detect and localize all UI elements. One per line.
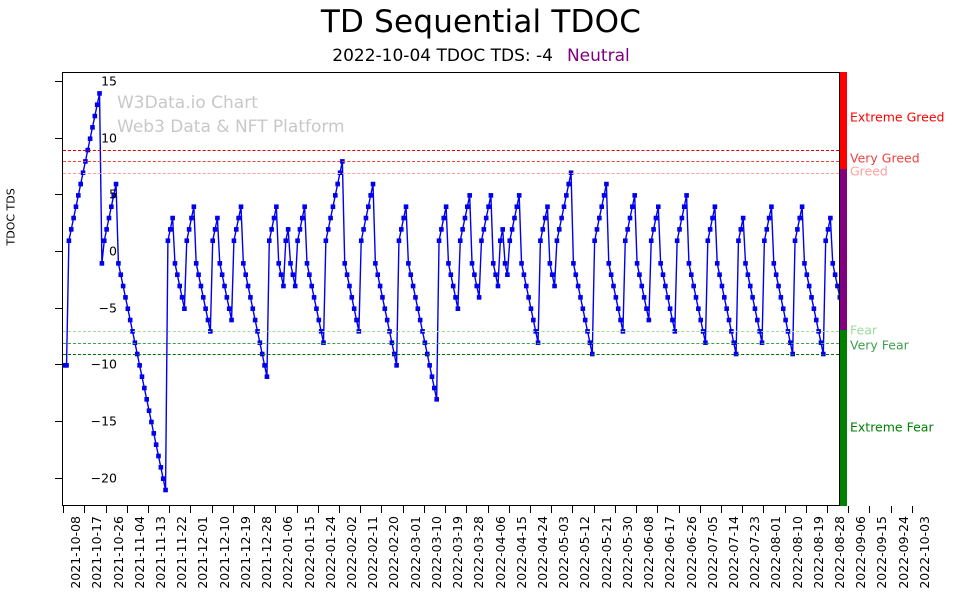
chart-subtitle-row: 2022-10-04 TDOC TDS: -4Neutral: [0, 46, 962, 66]
colorbar-segment-label: Extreme Greed: [850, 110, 944, 125]
data-series-line: [63, 73, 840, 506]
x-axis-tick-label: 2022-05-03: [556, 516, 571, 589]
threshold-zone-label: Greed: [850, 163, 888, 178]
x-axis-tick-mark: [551, 506, 552, 513]
x-axis-tick-label: 2022-05-12: [577, 516, 592, 589]
x-axis-tick-mark: [636, 506, 637, 513]
threshold-zone-label: Fear: [850, 323, 877, 338]
x-axis-tick-mark: [869, 506, 870, 513]
y-axis-tick-label: 5: [57, 187, 117, 202]
y-axis-tick-mark: [55, 308, 62, 309]
x-axis-tick-label: 2022-01-15: [302, 516, 317, 589]
y-axis-tick-label: 10: [57, 130, 117, 145]
y-axis-tick-label: −5: [57, 300, 117, 315]
x-axis-tick-label: 2022-06-26: [684, 516, 699, 589]
y-axis-tick-label: 0: [57, 244, 117, 259]
y-axis-tick-label: −10: [57, 357, 117, 372]
x-axis-tick-mark: [445, 506, 446, 513]
colorbar-segment: [840, 169, 847, 330]
x-axis-tick-label: 2022-08-10: [790, 516, 805, 589]
colorbar-segment: [840, 72, 847, 169]
x-axis-tick-mark: [572, 506, 573, 513]
x-axis-tick-mark: [742, 506, 743, 513]
x-axis-tick-label: 2022-09-24: [896, 516, 911, 589]
chart-title: TD Sequential TDOC: [0, 4, 962, 40]
x-axis-tick-label: 2022-07-05: [705, 516, 720, 589]
x-axis-tick-mark: [424, 506, 425, 513]
x-axis-tick-label: 2022-08-19: [811, 516, 826, 589]
x-axis-tick-label: 2021-10-08: [68, 516, 83, 589]
x-axis-tick-mark: [721, 506, 722, 513]
x-axis-tick-label: 2022-03-19: [450, 516, 465, 589]
chart-subtitle: 2022-10-04 TDOC TDS: -4: [332, 46, 553, 66]
x-axis-tick-mark: [190, 506, 191, 513]
x-axis-tick-label: 2022-09-15: [874, 516, 889, 589]
x-axis-tick-mark: [466, 506, 467, 513]
x-axis-tick-label: 2022-01-24: [323, 516, 338, 589]
x-axis-tick-label: 2022-04-24: [535, 516, 550, 589]
x-axis-tick-mark: [169, 506, 170, 513]
greed-threshold: [63, 173, 839, 174]
x-axis-tick-mark: [148, 506, 149, 513]
plot-area: W3Data.io Chart Web3 Data & NFT Platform: [62, 72, 840, 506]
y-axis-tick-mark: [55, 81, 62, 82]
x-axis-tick-mark: [848, 506, 849, 513]
y-axis-tick-mark: [55, 138, 62, 139]
x-axis-tick-label: 2021-11-22: [174, 516, 189, 589]
x-axis-tick-label: 2022-05-21: [599, 516, 614, 589]
x-axis-tick-label: 2022-02-11: [365, 516, 380, 589]
y-axis-tick-label: 15: [57, 74, 117, 89]
x-axis-tick-label: 2022-10-03: [917, 516, 932, 589]
x-axis-tick-mark: [488, 506, 489, 513]
x-axis-tick-label: 2022-01-06: [280, 516, 295, 589]
x-axis-tick-label: 2022-03-10: [429, 516, 444, 589]
x-axis-tick-label: 2022-07-23: [747, 516, 762, 589]
x-axis-tick-label: 2022-07-14: [726, 516, 741, 589]
y-axis-tick-mark: [55, 478, 62, 479]
x-axis-tick-mark: [360, 506, 361, 513]
x-axis-tick-label: 2021-12-01: [195, 516, 210, 589]
y-axis-tick-mark: [55, 251, 62, 252]
x-axis-tick-label: 2022-08-28: [832, 516, 847, 589]
watermark-line-2: Web3 Data & NFT Platform: [117, 117, 345, 137]
plot-inner: W3Data.io Chart Web3 Data & NFT Platform: [63, 73, 839, 505]
x-axis-tick-label: 2022-06-17: [662, 516, 677, 589]
x-axis-tick-label: 2021-11-13: [153, 516, 168, 589]
x-axis-tick-mark: [763, 506, 764, 513]
x-axis-tick-label: 2022-08-01: [768, 516, 783, 589]
x-axis-tick-mark: [509, 506, 510, 513]
x-axis-tick-mark: [403, 506, 404, 513]
x-axis-tick-mark: [275, 506, 276, 513]
chart-canvas: TD Sequential TDOC 2022-10-04 TDOC TDS: …: [0, 0, 962, 613]
y-axis-tick-label: −15: [57, 414, 117, 429]
x-axis-tick-mark: [106, 506, 107, 513]
x-axis-tick-label: 2021-12-10: [217, 516, 232, 589]
x-axis-tick-mark: [381, 506, 382, 513]
x-axis-tick-mark: [679, 506, 680, 513]
x-axis-tick-mark: [912, 506, 913, 513]
x-axis-tick-label: 2021-11-04: [132, 516, 147, 589]
y-axis-label: TDOC TDS: [5, 228, 18, 246]
watermark-line-1: W3Data.io Chart: [117, 93, 258, 113]
x-axis-tick-mark: [827, 506, 828, 513]
x-axis-tick-mark: [233, 506, 234, 513]
y-axis-tick-mark: [55, 194, 62, 195]
x-axis-tick-mark: [891, 506, 892, 513]
x-axis-tick-mark: [127, 506, 128, 513]
status-badge: Neutral: [567, 46, 630, 66]
colorbar-segment-label: Extreme Fear: [850, 419, 934, 434]
x-axis-tick-mark: [84, 506, 85, 513]
x-axis-tick-mark: [254, 506, 255, 513]
colorbar-segment: [840, 330, 847, 506]
y-axis-tick-mark: [55, 364, 62, 365]
x-axis-tick-label: 2022-03-28: [471, 516, 486, 589]
x-axis-tick-label: 2022-02-02: [344, 516, 359, 589]
extreme-greed-threshold: [63, 150, 839, 151]
y-axis-tick-mark: [55, 421, 62, 422]
fear-threshold: [63, 331, 839, 332]
x-axis-tick-mark: [615, 506, 616, 513]
x-axis-tick-mark: [339, 506, 340, 513]
threshold-zone-label: Very Fear: [850, 338, 909, 353]
x-axis-tick-label: 2022-09-06: [853, 516, 868, 589]
x-axis-tick-mark: [63, 506, 64, 513]
x-axis-tick-mark: [657, 506, 658, 513]
extreme-fear-threshold: [63, 354, 839, 355]
x-axis-tick-mark: [212, 506, 213, 513]
x-axis-tick-label: 2021-12-19: [238, 516, 253, 589]
x-axis-tick-mark: [785, 506, 786, 513]
x-axis-tick-mark: [530, 506, 531, 513]
x-axis-tick-label: 2022-04-06: [493, 516, 508, 589]
x-axis-tick-mark: [297, 506, 298, 513]
x-axis-tick-label: 2021-12-28: [259, 516, 274, 589]
x-axis-tick-label: 2022-04-15: [514, 516, 529, 589]
x-axis-tick-mark: [594, 506, 595, 513]
x-axis-tick-mark: [318, 506, 319, 513]
very-greed-threshold: [63, 161, 839, 162]
x-axis-tick-label: 2022-02-20: [386, 516, 401, 589]
y-axis-tick-label: −20: [57, 470, 117, 485]
x-axis-tick-label: 2022-06-08: [641, 516, 656, 589]
x-axis-tick-label: 2021-10-17: [89, 516, 104, 589]
x-axis-tick-mark: [700, 506, 701, 513]
series-path: [64, 93, 840, 490]
very-fear-threshold: [63, 343, 839, 344]
x-axis-tick-label: 2021-10-26: [111, 516, 126, 589]
x-axis-tick-label: 2022-05-30: [620, 516, 635, 589]
x-axis-tick-mark: [806, 506, 807, 513]
x-axis-tick-label: 2022-03-01: [408, 516, 423, 589]
